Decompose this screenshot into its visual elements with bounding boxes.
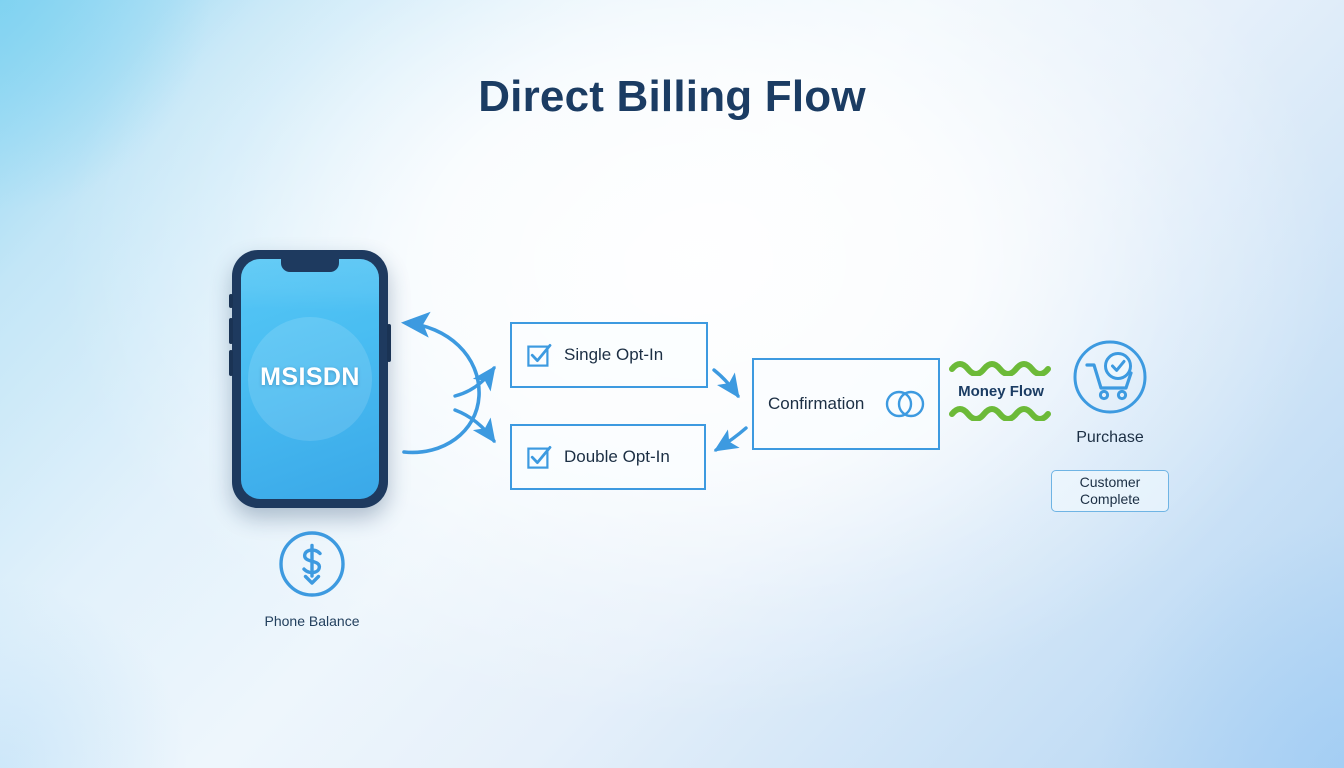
diagram-canvas: Direct Billing Flow	[0, 0, 1344, 768]
phone-notch	[281, 259, 339, 272]
phone-power-button	[387, 324, 391, 362]
wavy-line-icon	[949, 358, 1053, 376]
checkbox-checked-icon	[526, 342, 552, 368]
page-title: Direct Billing Flow	[0, 72, 1344, 122]
dollar-down-circle-icon	[276, 528, 348, 600]
wavy-line-icon	[949, 403, 1053, 421]
money-flow-label: Money Flow	[946, 381, 1056, 403]
phone-volume-up-button	[229, 318, 233, 344]
phone-balance-group: Phone Balance	[248, 528, 376, 629]
double-optin-label: Double Opt-In	[564, 447, 670, 467]
confirmation-box[interactable]: Confirmation	[752, 358, 940, 450]
return-arc-arrow	[404, 323, 479, 452]
money-flow-group: Money Flow	[946, 358, 1056, 426]
msisdn-label: MSISDN	[241, 363, 379, 392]
single-optin-label: Single Opt-In	[564, 345, 663, 365]
arrow-confirmation-to-double	[716, 428, 746, 450]
phone-screen: MSISDN	[241, 259, 379, 499]
customer-complete-label: Customer Complete	[1080, 474, 1141, 508]
branch-arrow-up	[455, 368, 494, 396]
phone-volume-down-button	[229, 350, 233, 376]
confirmation-label: Confirmation	[768, 394, 864, 414]
purchase-group: Purchase	[1050, 336, 1170, 447]
link-chain-icon	[884, 387, 926, 421]
phone-mute-button	[229, 294, 233, 308]
customer-complete-badge: Customer Complete	[1051, 470, 1169, 512]
shopping-cart-check-icon	[1069, 336, 1151, 418]
arrow-single-to-confirmation	[714, 370, 738, 396]
purchase-label: Purchase	[1050, 429, 1170, 447]
branch-arrow-down	[455, 410, 494, 441]
double-optin-box[interactable]: Double Opt-In	[510, 424, 706, 490]
smartphone-icon: MSISDN	[232, 250, 388, 508]
single-optin-box[interactable]: Single Opt-In	[510, 322, 708, 388]
checkbox-checked-icon	[526, 444, 552, 470]
phone-balance-label: Phone Balance	[248, 613, 376, 629]
